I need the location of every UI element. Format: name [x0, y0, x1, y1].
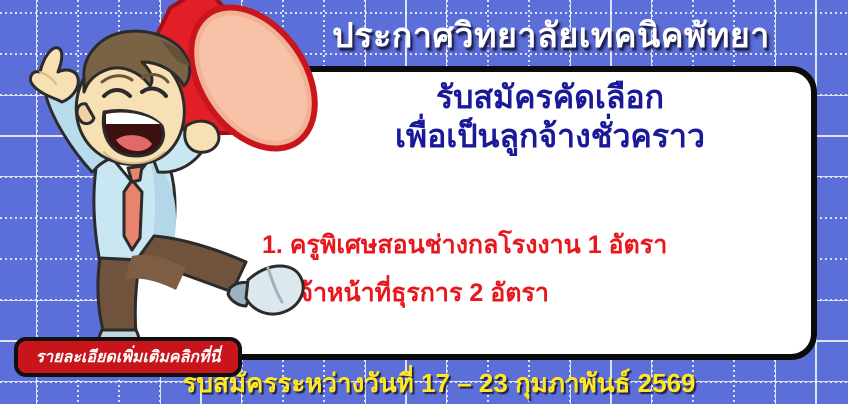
cta-label: รายละเอียดเพิ่มเติมคลิกที่นี่: [36, 345, 221, 370]
headline-line-2: เพื่อเป็นลูกจ้างชั่วคราว: [300, 117, 800, 156]
more-details-button[interactable]: รายละเอียดเพิ่มเติมคลิกที่นี่: [14, 337, 242, 377]
poster-canvas: ประกาศวิทยาลัยเทคนิคพัทยา รับสมัครคัดเลื…: [0, 0, 848, 404]
position-list: 1. ครูพิเศษสอนช่างกลโรงงาน 1 อัตรา 2. เจ…: [262, 222, 822, 317]
list-item: 2. เจ้าหน้าที่ธุรการ 2 อัตรา: [262, 270, 822, 318]
headline-line-1: รับสมัครคัดเลือก: [300, 78, 800, 117]
header-title: ประกาศวิทยาลัยเทคนิคพัทยา: [332, 19, 770, 53]
cartoon-man-illustration: [0, 0, 330, 380]
headline-block: รับสมัครคัดเลือก เพื่อเป็นลูกจ้างชั่วครา…: [300, 78, 800, 156]
list-item: 1. ครูพิเศษสอนช่างกลโรงงาน 1 อัตรา: [262, 222, 822, 270]
